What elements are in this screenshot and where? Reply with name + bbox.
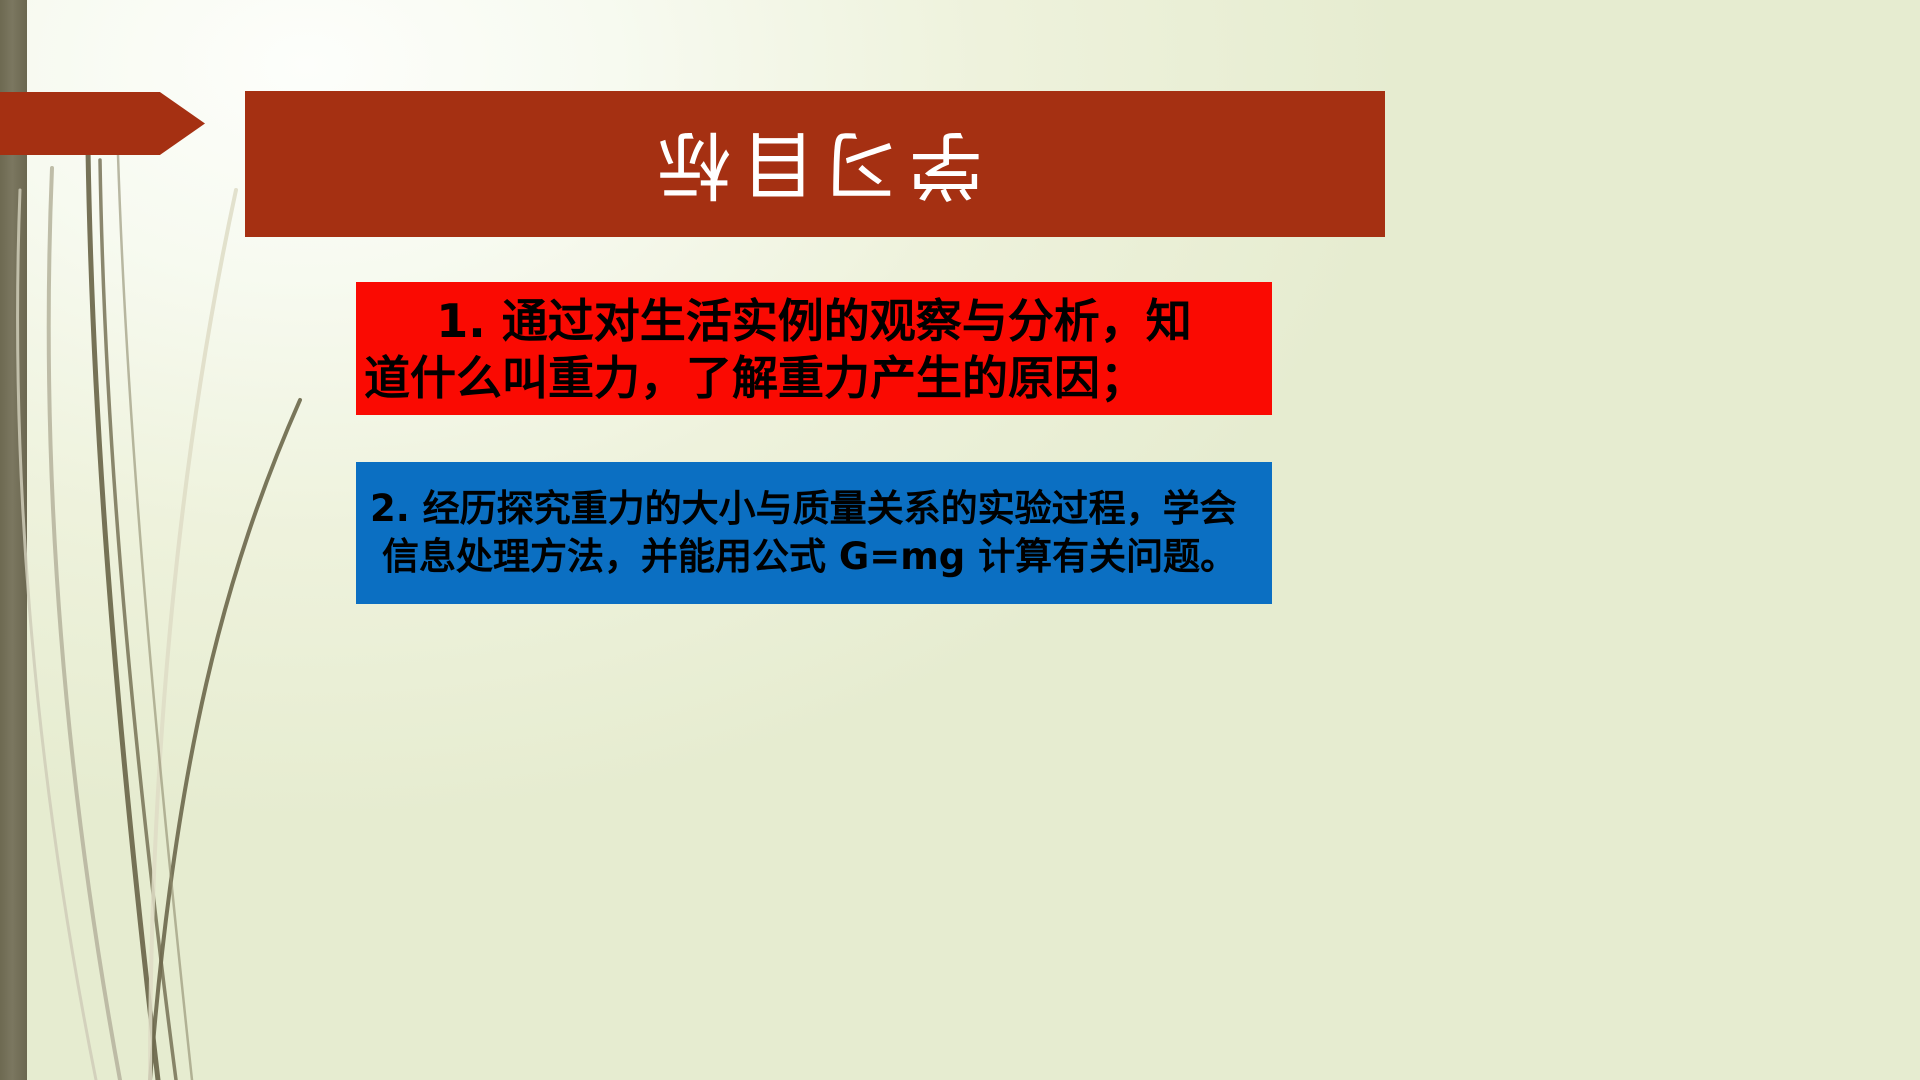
objective-1-line-2: 道什么叫重力，了解重力产生的原因； <box>362 350 1266 406</box>
objective-2-line-2: 信息处理方法，并能用公式 G=mg 计算有关问题。 <box>364 533 1264 581</box>
objective-1-line-1: 1. 通过对生活实例的观察与分析，知 <box>362 293 1266 349</box>
objective-box-2: 2. 经历探究重力的大小与质量关系的实验过程，学会 信息处理方法，并能用公式 G… <box>356 462 1272 604</box>
left-accent-bar <box>0 0 27 1080</box>
slide-canvas: 学习目标 1. 通过对生活实例的观察与分析，知 道什么叫重力，了解重力产生的原因… <box>0 0 1920 1080</box>
page-title: 学习目标 <box>647 127 983 201</box>
objective-2-line-1: 2. 经历探究重力的大小与质量关系的实验过程，学会 <box>364 485 1264 533</box>
title-banner: 学习目标 <box>245 91 1385 237</box>
arrow-banner-shape <box>0 92 205 155</box>
objective-box-1: 1. 通过对生活实例的观察与分析，知 道什么叫重力，了解重力产生的原因； <box>356 282 1272 415</box>
